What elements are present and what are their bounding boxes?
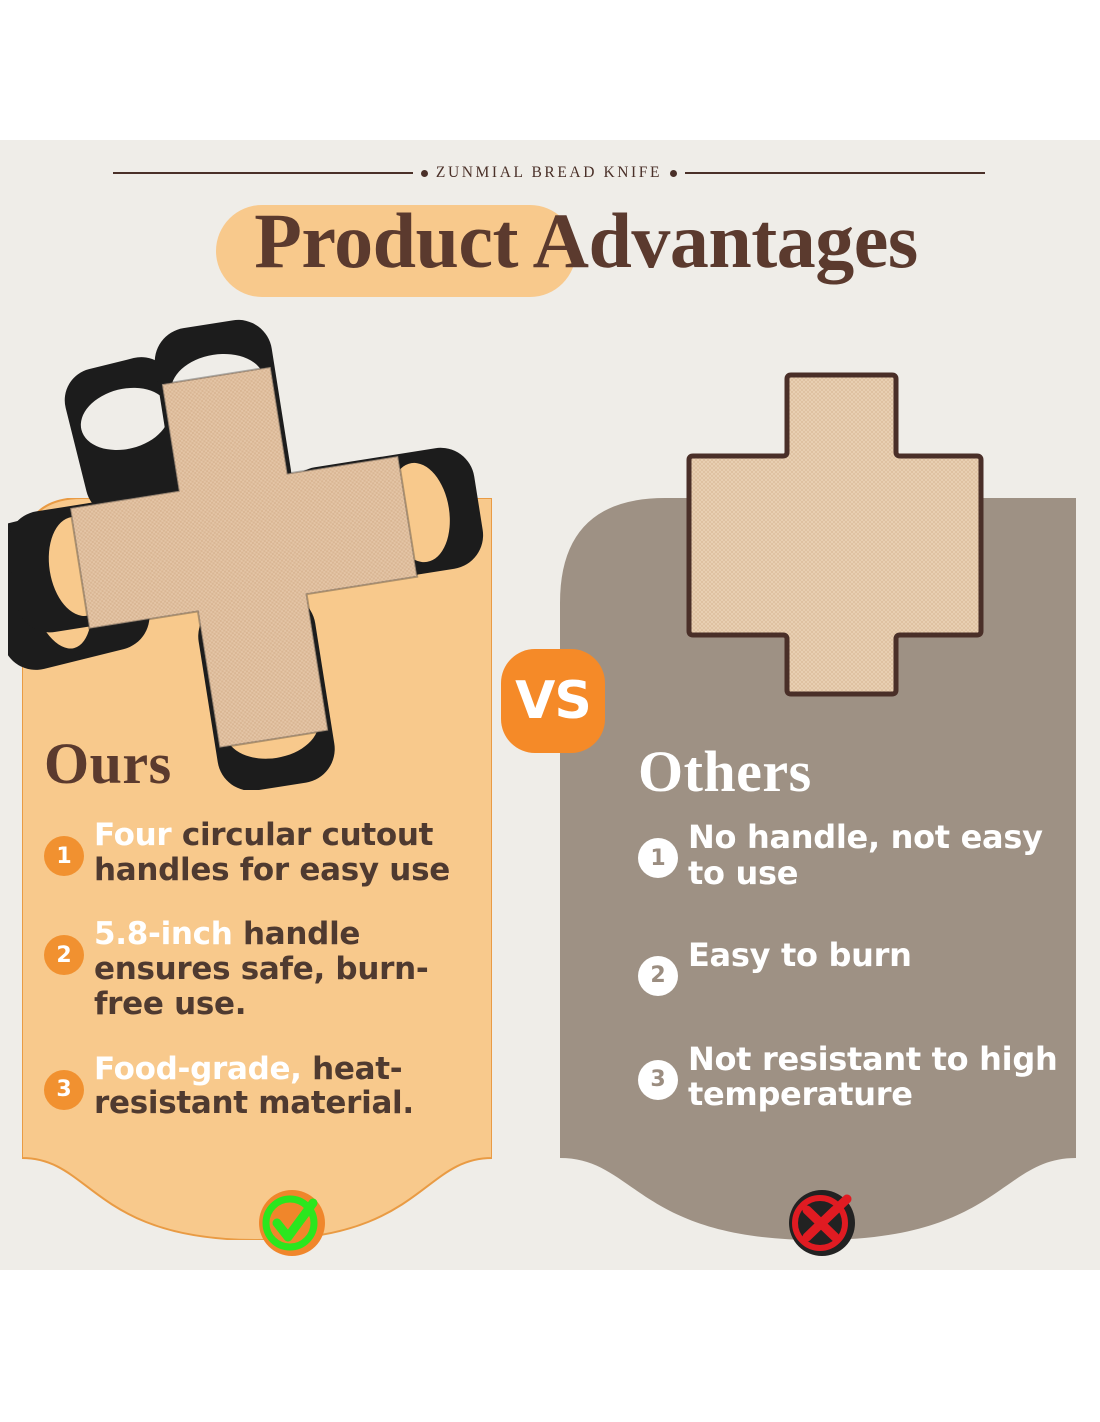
others-feature-badge-3: 3 (638, 1060, 678, 1100)
others-verdict-cross (785, 1185, 859, 1259)
others-feature-text-1: No handle, not easy to use (688, 820, 1068, 892)
others-feature-item-2: 2 Easy to burn (638, 938, 1068, 996)
ours-feature-highlight-3: Food-grade, (94, 1051, 302, 1087)
ours-feature-item-2: 2 5.8-inch handle ensures safe, burn-fre… (44, 917, 496, 1021)
check-circle-icon (255, 1185, 329, 1259)
others-feature-item-3: 3 Not resistant to high temperature (638, 1042, 1068, 1114)
others-heading: Others (638, 738, 812, 805)
ours-feature-highlight-1: Four (94, 817, 171, 853)
brand-name: ZUNMIAL BREAD KNIFE (436, 164, 662, 182)
ours-feature-text-1: Four circular cutout handles for easy us… (94, 818, 496, 887)
others-feature-badge-2: 2 (638, 956, 678, 996)
dot-icon-right (670, 170, 677, 177)
plain-cross-mat-icon (655, 355, 1045, 700)
ours-feature-item-3: 3 Food-grade, heat-resistant material. (44, 1052, 496, 1121)
others-feature-badge-1: 1 (638, 838, 678, 878)
cross-trivet-with-handles-icon (8, 300, 488, 790)
brand-rule-right (685, 172, 985, 174)
ours-feature-badge-2: 2 (44, 935, 84, 975)
others-feature-text-3: Not resistant to high temperature (688, 1042, 1068, 1114)
others-product-image (655, 355, 1045, 700)
ours-feature-text-2: 5.8-inch handle ensures safe, burn-free … (94, 917, 496, 1021)
dot-icon-left (421, 170, 428, 177)
ours-feature-item-1: 1 Four circular cutout handles for easy … (44, 818, 496, 887)
ours-product-image (8, 300, 488, 790)
brand-rule-left (113, 172, 413, 174)
page-title: Product Advantages (0, 196, 1100, 286)
vs-label: VS (515, 671, 591, 731)
others-feature-item-1: 1 No handle, not easy to use (638, 820, 1068, 892)
ours-feature-badge-1: 1 (44, 836, 84, 876)
others-feature-list: 1 No handle, not easy to use 2 Easy to b… (638, 820, 1068, 1159)
ours-feature-text-3: Food-grade, heat-resistant material. (94, 1052, 496, 1121)
cross-circle-icon (785, 1185, 859, 1259)
others-feature-text-2: Easy to burn (688, 938, 1068, 974)
ours-verdict-check (255, 1185, 329, 1259)
poster-canvas: ZUNMIAL BREAD KNIFE Product Advantages O… (0, 0, 1100, 1422)
ours-feature-highlight-2: 5.8-inch (94, 916, 233, 952)
ours-feature-list: 1 Four circular cutout handles for easy … (44, 818, 496, 1151)
brand-strip: ZUNMIAL BREAD KNIFE (22, 158, 1076, 188)
ours-feature-badge-3: 3 (44, 1070, 84, 1110)
vs-badge: VS (501, 649, 605, 753)
